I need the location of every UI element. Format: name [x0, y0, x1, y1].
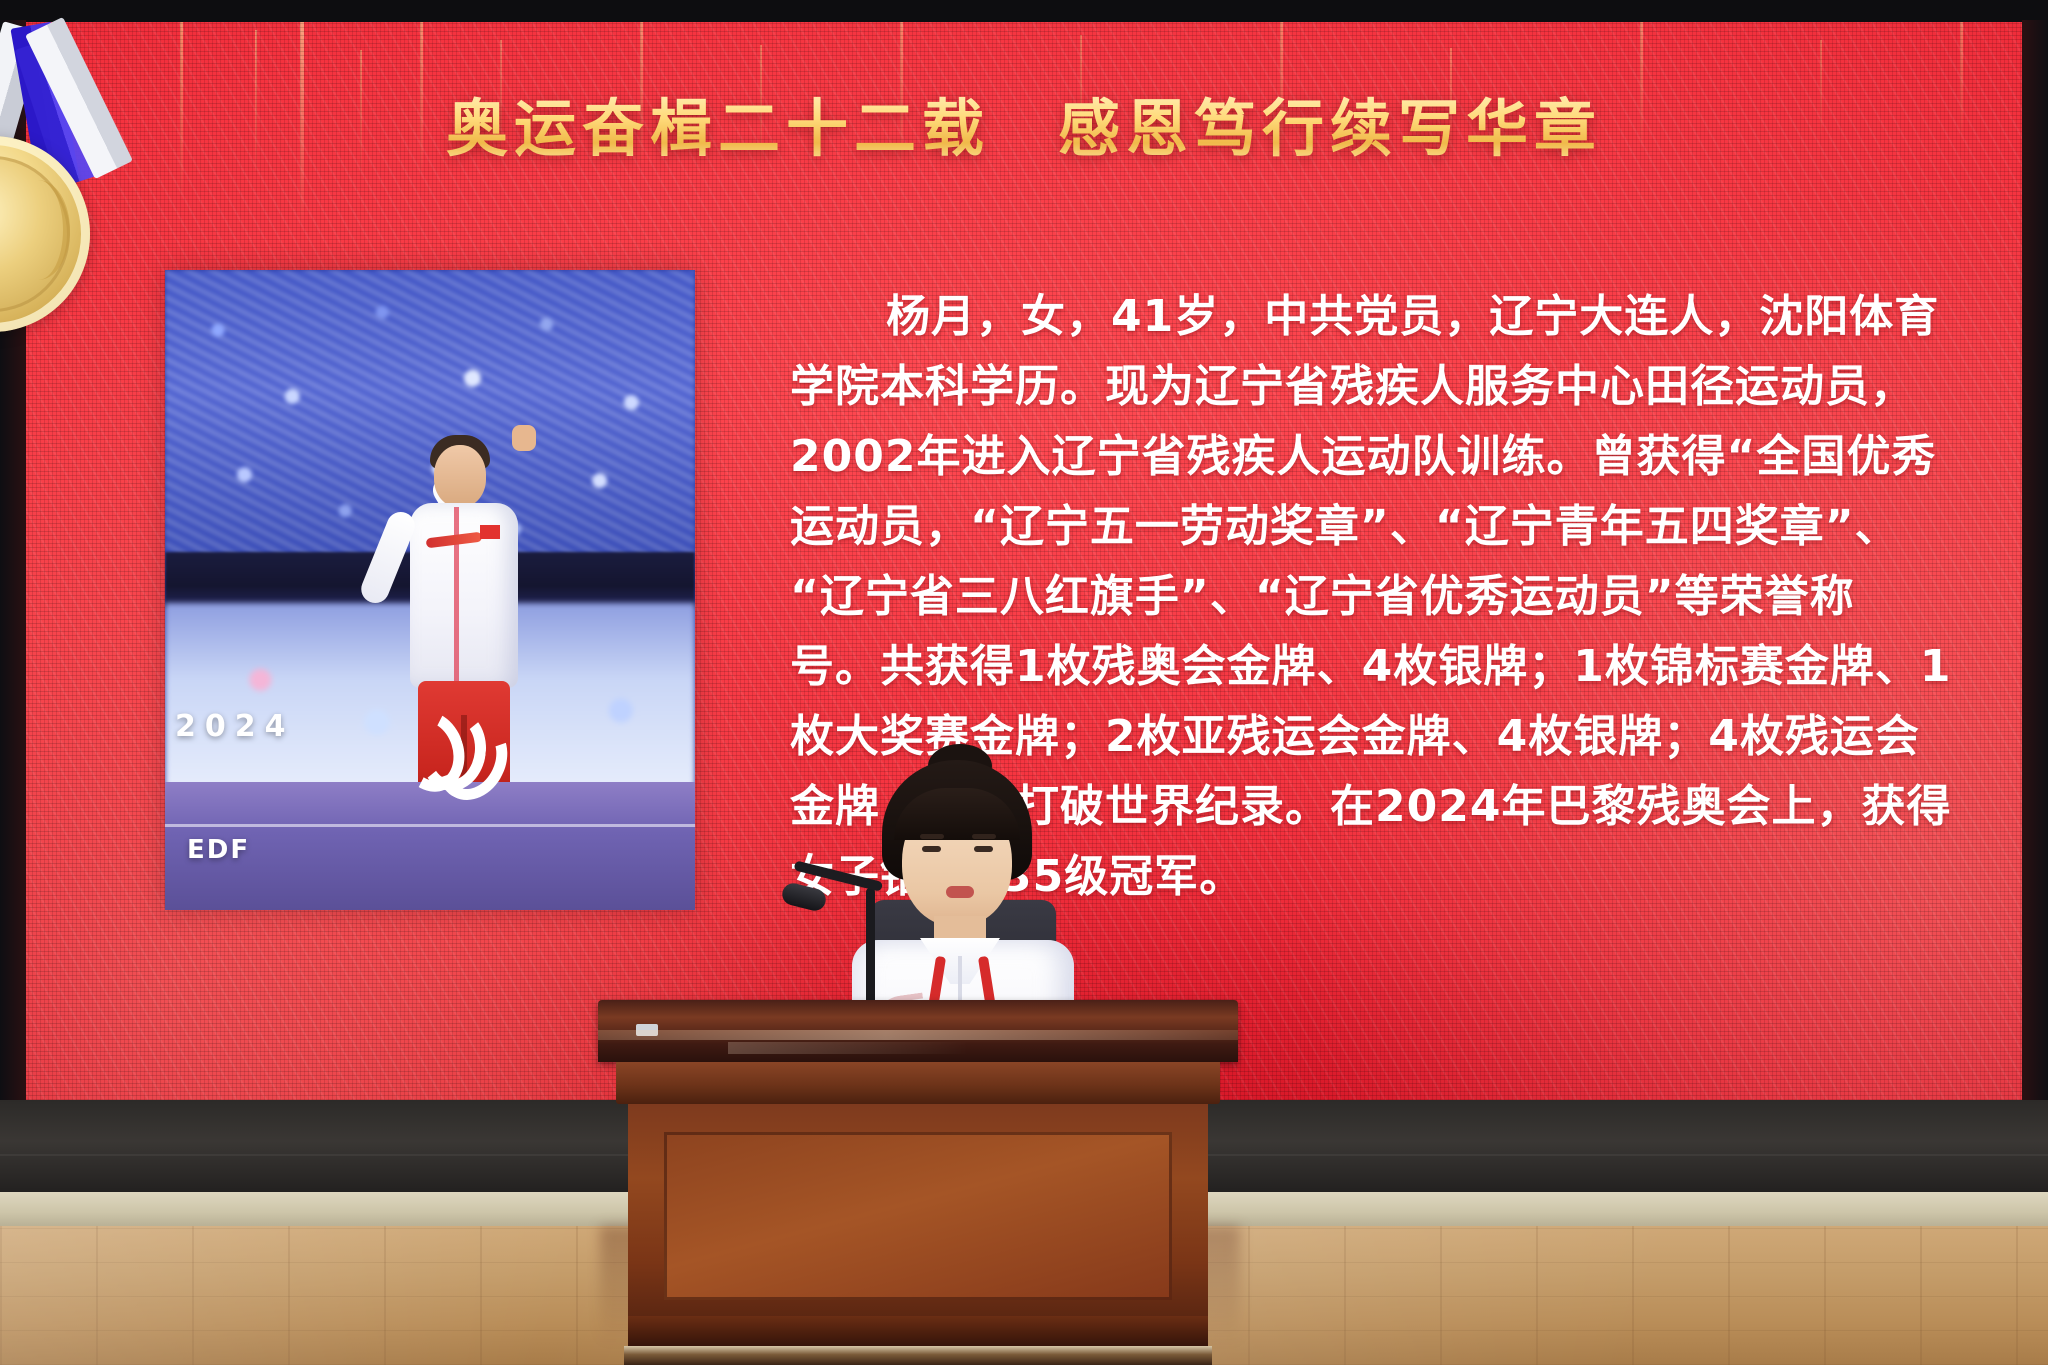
photo-athlete-fist — [512, 425, 536, 451]
speaker-eyebrow-left — [920, 834, 944, 839]
microphone-capsule-icon — [780, 881, 828, 913]
photo-athlete-head — [434, 445, 486, 507]
podium-engraving — [728, 1042, 968, 1054]
body-line-6: 号。共获得1枚残奥会金牌、4枚银牌；1枚锦标赛金牌、1 — [790, 632, 2030, 702]
podium-front-lip — [616, 1062, 1220, 1104]
speaker-eye-right — [974, 846, 993, 852]
slide-title: 奥运奋楫二十二载 感恩笃行续写华章 — [0, 78, 2048, 168]
body-line-2: 学院本科学历。现为辽宁省残疾人服务中心田径运动员， — [790, 352, 2030, 422]
podium-base — [628, 1316, 1208, 1346]
body-line-3: 2002年进入辽宁省残疾人运动队训练。曾获得“全国优秀 — [790, 422, 2030, 492]
body-line-5: “辽宁省三八红旗手”、“辽宁省优秀运动员”等荣誉称 — [790, 562, 2030, 632]
photo-foreground-line — [165, 824, 695, 827]
podium-lectern — [598, 1000, 1238, 1365]
photo-sponsor-label: EDF — [187, 835, 250, 865]
podium-foot-trim — [624, 1346, 1212, 1365]
podium-top-surface — [598, 1000, 1238, 1062]
inset-photo: 2024 EDF — [165, 270, 695, 910]
podium-top-highlight — [598, 1030, 1238, 1040]
body-line-1: 杨月，女，41岁，中共党员，辽宁大连人，沈阳体育 — [790, 282, 2030, 352]
photo-athlete-jacket — [410, 503, 518, 688]
paralympic-agitos-icon — [395, 708, 487, 782]
photo-year-label: 2024 — [175, 709, 295, 744]
photo-athlete-flag-patch — [480, 525, 500, 539]
ceiling-shadow-bar — [0, 0, 2048, 22]
screenshot-root: 1 奥运奋楫二十二载 感恩笃行续写华章 202 — [0, 0, 2048, 1365]
speaker-eyebrow-right — [972, 834, 996, 839]
speaker-eye-left — [922, 846, 941, 852]
podium-front-panel — [664, 1132, 1172, 1300]
body-line-4: 运动员，“辽宁五一劳动奖章”、“辽宁青年五四奖章”、 — [790, 492, 2030, 562]
